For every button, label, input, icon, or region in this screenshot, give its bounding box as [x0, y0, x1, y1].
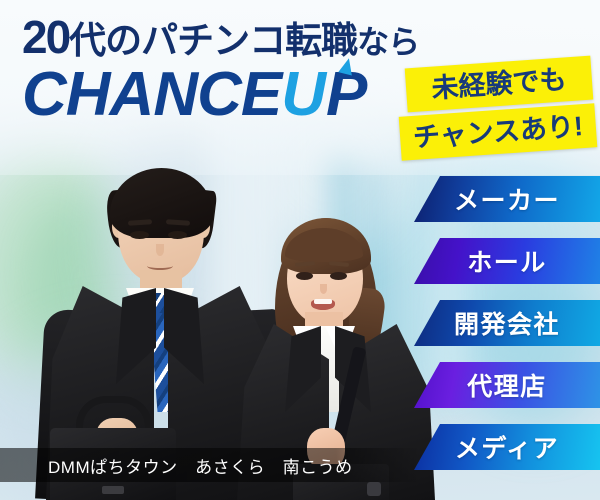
category-tag-list: メーカー ホール 開発会社 代理店 メディア [414, 176, 600, 486]
people-photo [0, 140, 440, 500]
nose [320, 284, 327, 294]
headline-number: 20 [22, 11, 69, 63]
headline-line-1: 20代のパチンコ転職なら [22, 14, 422, 60]
hair [110, 168, 213, 238]
eye [296, 272, 313, 280]
tag-media[interactable]: メディア [414, 424, 600, 470]
credit-caption-text: DMMぱちタウン あさくら 南こうめ [0, 453, 353, 478]
badge-label: 未経験でも [430, 57, 568, 110]
headline-line-2: CHANCEUP [22, 64, 422, 126]
headline-middle-text: 代のパチンコ転職 [69, 20, 357, 61]
tag-label: 代理店 [467, 367, 547, 403]
headline-block: 20代のパチンコ転職なら CHANCEUP [22, 14, 422, 126]
tag-label: ホール [467, 243, 547, 279]
up-letter-u: U [281, 60, 326, 129]
eye [130, 231, 149, 239]
eye [168, 231, 187, 239]
tag-label: メーカー [454, 181, 560, 217]
headline-suffix-text: なら [357, 24, 419, 60]
tag-hall[interactable]: ホール [414, 238, 600, 284]
nose [156, 244, 164, 256]
teeth [314, 299, 332, 304]
bag-clasp [367, 482, 381, 496]
bag-clasp [102, 486, 124, 494]
chance-wordmark: CHANCE [22, 60, 281, 129]
tag-maker[interactable]: メーカー [414, 176, 600, 222]
credit-caption-bar: DMMぱちタウン あさくら 南こうめ [0, 448, 420, 482]
mouth [147, 262, 173, 270]
tag-development-company[interactable]: 開発会社 [414, 300, 600, 346]
tag-label: メディア [455, 429, 559, 465]
tag-agency[interactable]: 代理店 [414, 362, 600, 408]
eye [330, 272, 347, 280]
ad-banner[interactable]: 20代のパチンコ転職なら CHANCEUP 未経験でも チャンスあり! メーカー… [0, 0, 600, 500]
tag-label: 開発会社 [454, 305, 560, 341]
